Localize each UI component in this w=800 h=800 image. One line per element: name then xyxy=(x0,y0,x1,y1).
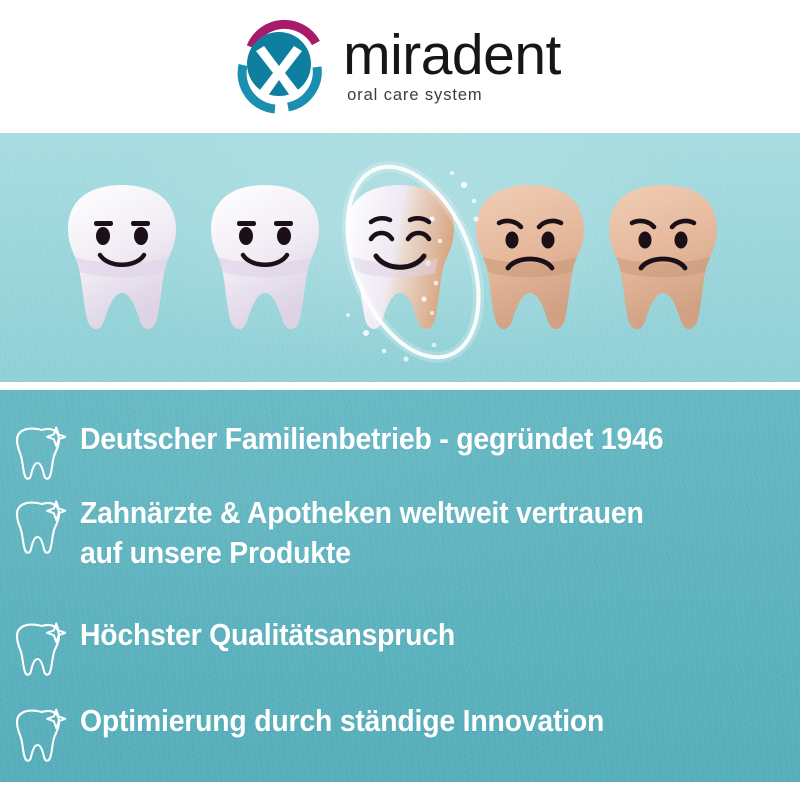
benefits-panel: Deutscher Familienbetrieb - gegründet 19… xyxy=(0,390,800,782)
benefit-item-1: Deutscher Familienbetrieb - gegründet 19… xyxy=(14,420,780,480)
benefit-item-4: Optimierung durch ständige Innovation xyxy=(14,702,780,762)
tooth-transforming xyxy=(340,179,460,339)
logo-lockup: miradent oral care system xyxy=(231,17,561,117)
benefit-text: Zahnärzte & Apotheken weltweit vertrauen… xyxy=(80,494,644,573)
benefit-item-3: Höchster Qualitätsanspruch xyxy=(14,616,780,676)
benefits-list: Deutscher Familienbetrieb - gegründet 19… xyxy=(0,390,800,782)
tooth-sparkle-icon xyxy=(14,422,66,480)
tooth-sparkle-icon xyxy=(14,618,66,676)
tooth-sad-2 xyxy=(603,179,723,339)
logo-header: miradent oral care system xyxy=(0,0,800,133)
teeth-row xyxy=(0,133,800,382)
miradent-brand-poster: miradent oral care system xyxy=(0,0,800,800)
tooth-sad-1 xyxy=(470,179,590,339)
brand-tagline: oral care system xyxy=(343,86,482,105)
hero-photo xyxy=(0,133,800,382)
tooth-sparkle-icon xyxy=(14,704,66,762)
miradent-x-circle-logo-icon xyxy=(231,17,327,117)
benefit-text: Deutscher Familienbetrieb - gegründet 19… xyxy=(80,420,663,460)
benefit-item-2: Zahnärzte & Apotheken weltweit vertrauen… xyxy=(14,494,780,573)
tooth-sparkle-icon xyxy=(14,496,66,554)
brand-wordmark: miradent xyxy=(343,28,561,83)
tooth-happy-1 xyxy=(62,179,182,339)
section-divider xyxy=(0,382,800,390)
benefit-text: Höchster Qualitätsanspruch xyxy=(80,616,455,656)
tooth-happy-2 xyxy=(205,179,325,339)
logo-text-block: miradent oral care system xyxy=(343,28,561,105)
benefit-text: Optimierung durch ständige Innovation xyxy=(80,702,604,742)
